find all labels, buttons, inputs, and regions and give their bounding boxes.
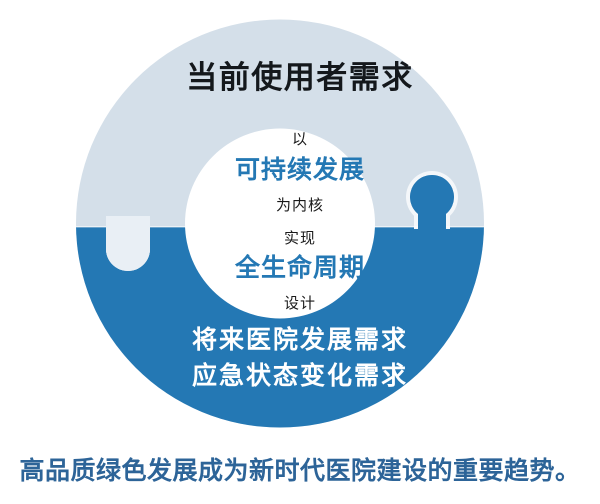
- inner-line-6: 设计: [0, 296, 600, 311]
- inner-line-4: 实现: [0, 231, 600, 246]
- bottom-ring-line-2: 应急状态变化需求: [0, 364, 600, 389]
- figure-caption: 高品质绿色发展成为新时代医院建设的重要趋势。: [0, 459, 600, 484]
- inner-line-5-highlight: 全生命周期: [0, 256, 600, 281]
- inner-line-1: 以: [0, 132, 600, 147]
- inner-line-3: 为内核: [0, 198, 600, 213]
- inner-line-2-highlight: 可持续发展: [0, 158, 600, 183]
- infographic-canvas: 当前使用者需求 以 可持续发展 为内核 实现 全生命周期 设计 将来医院发展需求…: [0, 0, 600, 504]
- page-title: 当前使用者需求: [0, 62, 600, 93]
- bottom-ring-line-1: 将来医院发展需求: [0, 328, 600, 353]
